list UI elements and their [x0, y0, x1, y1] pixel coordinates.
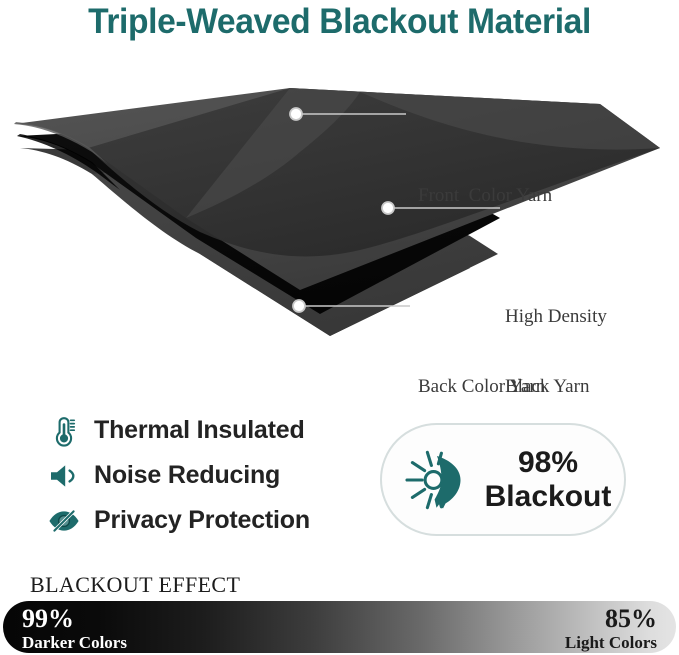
- speaker-icon: [44, 458, 84, 494]
- blackout-effect-darker-colors: 99% Darker Colors: [22, 606, 127, 651]
- thermometer-icon: [44, 413, 84, 449]
- feature-label-thermal-insulated: Thermal Insulated: [94, 416, 305, 445]
- callout-marker-back: [293, 300, 305, 312]
- feature-item-thermal-insulated: Thermal Insulated: [44, 408, 374, 453]
- page-title: Triple-Weaved Blackout Material: [14, 2, 666, 42]
- blackout-effect-heading: BLACKOUT EFFECT: [30, 572, 240, 598]
- sun-behind-curtain-icon: [397, 442, 473, 518]
- callout-marker-high-density: [382, 202, 394, 214]
- feature-list: Thermal Insulated Noise Reducing Privacy…: [44, 408, 374, 543]
- feature-item-privacy-protection: Privacy Protection: [44, 498, 374, 543]
- light-colors-label: Light Colors: [565, 634, 657, 651]
- darker-colors-percent: 99%: [22, 606, 127, 632]
- callout-marker-front: [290, 108, 302, 120]
- blackout-effect-light-colors: 85% Light Colors: [565, 606, 657, 651]
- blackout-badge: 98% Blackout: [380, 423, 626, 536]
- callout-label-front: Front Color Yarn: [418, 184, 552, 207]
- feature-item-noise-reducing: Noise Reducing: [44, 453, 374, 498]
- callout-label-high-density: High Density Black Yarn: [505, 259, 607, 444]
- blackout-badge-text: 98% Blackout: [485, 446, 612, 513]
- darker-colors-label: Darker Colors: [22, 634, 127, 651]
- feature-label-noise-reducing: Noise Reducing: [94, 461, 280, 490]
- fabric-layers-diagram: Front Color Yarn High Density Black Yarn…: [0, 78, 679, 358]
- feature-label-privacy-protection: Privacy Protection: [94, 506, 310, 535]
- blackout-label: Blackout: [485, 480, 612, 513]
- callout-label-back: Back Color Yarn: [418, 375, 545, 398]
- light-colors-percent: 85%: [565, 606, 657, 632]
- callout-label-high-density-line1: High Density: [505, 305, 607, 328]
- blackout-percent: 98%: [518, 446, 578, 479]
- eye-slash-icon: [44, 503, 84, 539]
